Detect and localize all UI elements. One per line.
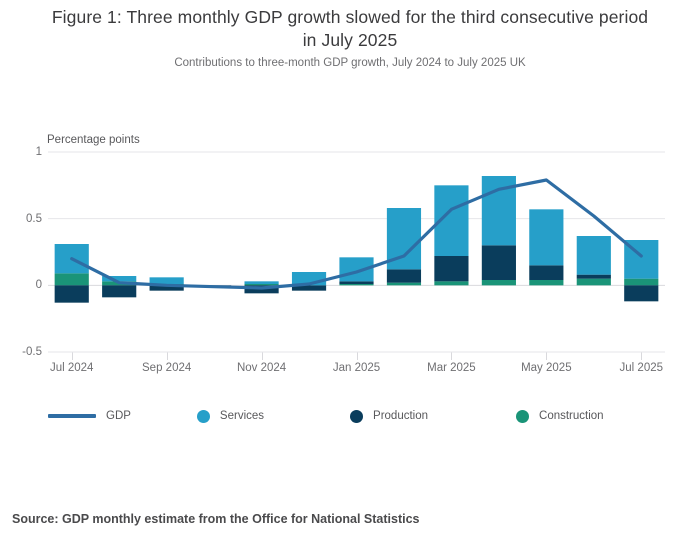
legend-dot-swatch-icon (350, 410, 363, 423)
legend-label: Production (373, 410, 428, 422)
bar-segment (624, 285, 658, 301)
x-axis-tick-label: Jan 2025 (333, 362, 380, 374)
y-axis-caption: Percentage points (47, 134, 140, 146)
y-axis-tick-label: 0 (8, 279, 42, 291)
page-title: Figure 1: Three monthly GDP growth slowe… (50, 6, 650, 52)
legend-item-production[interactable]: Production (350, 410, 428, 423)
bar-segment (244, 281, 278, 284)
bar-segment (55, 273, 89, 285)
y-axis-tick-label: -0.5 (8, 346, 42, 358)
source-note: Source: GDP monthly estimate from the Of… (12, 512, 420, 526)
x-axis-tick-mark (167, 352, 168, 360)
bar-segment (339, 281, 373, 284)
bar-segment (387, 283, 421, 286)
figure-container: Figure 1: Three monthly GDP growth slowe… (0, 0, 700, 549)
bar-segment (482, 245, 516, 280)
x-axis-tick-label: Sep 2024 (142, 362, 191, 374)
chart-subtitle: Contributions to three-month GDP growth,… (50, 56, 650, 71)
bar-segment (482, 280, 516, 285)
legend-item-construction[interactable]: Construction (516, 410, 604, 423)
x-axis-tick-mark (72, 352, 73, 360)
legend-item-gdp[interactable]: GDP (48, 410, 131, 422)
bar-segment (244, 284, 278, 285)
legend-line-swatch-icon (48, 414, 96, 418)
bar-segment (529, 265, 563, 280)
legend-label: GDP (106, 410, 131, 422)
bar-segment (102, 285, 136, 297)
x-axis-tick-label: Mar 2025 (427, 362, 476, 374)
x-axis-tick-mark (451, 352, 452, 360)
bar-segment (577, 275, 611, 279)
stacked-bar-chart (48, 152, 665, 352)
bar-segment (624, 279, 658, 286)
plot-area (48, 152, 665, 352)
bar-segment (434, 256, 468, 281)
bar-segment (339, 284, 373, 285)
x-axis-tick-mark (546, 352, 547, 360)
y-axis-tick-label: 0.5 (8, 213, 42, 225)
legend-dot-swatch-icon (197, 410, 210, 423)
y-axis-tick-label: 1 (8, 146, 42, 158)
x-axis-tick-label: Jul 2025 (620, 362, 663, 374)
legend-item-services[interactable]: Services (197, 410, 264, 423)
x-axis-tick-label: May 2025 (521, 362, 572, 374)
bar-segment (529, 209, 563, 265)
x-axis-tick-label: Nov 2024 (237, 362, 286, 374)
x-axis-tick-mark (357, 352, 358, 360)
bar-segment (529, 280, 563, 285)
y-axis-ticks: 10.50-0.5 (0, 0, 42, 549)
legend-label: Services (220, 410, 264, 422)
chart-legend: GDPServicesProductionConstruction (48, 405, 604, 427)
bar-segment (150, 277, 184, 284)
x-axis-ticks: Jul 2024Sep 2024Nov 2024Jan 2025Mar 2025… (0, 360, 700, 380)
legend-label: Construction (539, 410, 604, 422)
bar-segment (387, 269, 421, 282)
bar-segment (55, 285, 89, 302)
bar-segment (434, 281, 468, 285)
legend-dot-swatch-icon (516, 410, 529, 423)
x-axis-tick-label: Jul 2024 (50, 362, 93, 374)
x-axis-tick-mark (641, 352, 642, 360)
bar-segment (577, 279, 611, 286)
x-axis-tick-mark (262, 352, 263, 360)
bar-segment (577, 236, 611, 275)
